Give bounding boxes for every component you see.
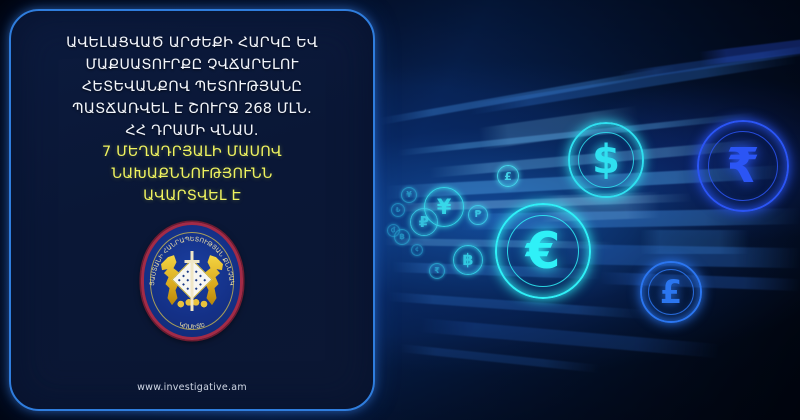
- headline-block: ԱՎԵԼԱՑՎԱԾ ԱՐԺԵՔԻ ՀԱՐԿԸ ԵՎ ՄԱՔՍԱՏՈՒՐՔԸ ՉՎ…: [27, 33, 357, 208]
- coin-rupee-icon: ₹: [697, 120, 789, 212]
- headline-line-4: ՊԱՏՃԱՌՎԵԼ Է ՇՈՒՐՋ 268 ՄԼՆ.: [27, 99, 357, 121]
- headline-line-5: ՀՀ ԴՐԱՄԻ ՎՆԱՍ.: [27, 121, 357, 143]
- coin-rupee-tiny-icon: ₹: [429, 263, 445, 279]
- coin-symbol: ₹: [434, 267, 440, 275]
- coin-symbol: ₱: [475, 210, 482, 220]
- headline-line-1: ԱՎԵԼԱՑՎԱԾ ԱՐԺԵՔԻ ՀԱՐԿԸ ԵՎ: [27, 33, 357, 55]
- coin-pound-small-icon: £: [497, 165, 519, 187]
- coin-pound-icon: £: [640, 261, 702, 323]
- coin-symbol: €: [526, 226, 561, 276]
- coin-symbol: $: [592, 140, 620, 180]
- highlight-line-2: ՆԱԽԱՔՆՆՈՒԹՅՈՒՆՆ: [27, 164, 357, 186]
- coin-symbol: ¥: [406, 191, 412, 199]
- coin-symbol: £: [660, 276, 682, 308]
- coin-lira-tiny-icon: ₺: [391, 203, 405, 217]
- emblem-wrap: ՀԱՅԱՍՏԱՆԻ ՀԱՆՐԱՊԵՏՈՒԹՅԱՆ ՔՆՆՉԱԿԱՆ ԿՈՄԻՏԵ: [141, 222, 243, 340]
- coin-symbol: £: [504, 171, 512, 182]
- headline-line-3: ՀԵՏԵՎԱՆՔՈՎ ՊԵՏՈՒԹՅԱՆԸ: [27, 77, 357, 99]
- coin-symbol: ₺: [396, 207, 401, 214]
- coin-symbol: ฿: [462, 252, 473, 268]
- announcement-card: $₹€£¥₽฿£₱¥₺฿₫₹¢ ԱՎԵԼԱՑՎԱԾ ԱՐԺԵՔԻ ՀԱՐԿԸ Ե…: [0, 0, 800, 420]
- coin-symbol: ₽: [419, 215, 429, 230]
- coin-peso-small-icon: ₱: [468, 205, 488, 225]
- coin-symbol: ₹: [726, 142, 759, 190]
- headline-line-2: ՄԱՔՍԱՏՈՒՐՔԸ ՉՎՃԱՐԵԼՈՒ: [27, 55, 357, 77]
- sword-icon: [191, 251, 194, 311]
- investigative-committee-emblem-icon: ՀԱՅԱՍՏԱՆԻ ՀԱՆՐԱՊԵՏՈՒԹՅԱՆ ՔՆՆՉԱԿԱՆ ԿՈՄԻՏԵ: [141, 222, 243, 340]
- coin-dong-tiny-icon: ₫: [387, 224, 400, 237]
- coin-symbol: ฿: [399, 233, 405, 241]
- coin-symbol: ¥: [437, 197, 452, 218]
- coin-cent-tiny-icon: ¢: [411, 244, 423, 256]
- text-panel: ԱՎԵԼԱՑՎԱԾ ԱՐԺԵՔԻ ՀԱՐԿԸ ԵՎ ՄԱՔՍԱՏՈՒՐՔԸ ՉՎ…: [9, 9, 375, 411]
- highlight-line-3: ԱՎԱՐՏՎԵԼ Է: [27, 186, 357, 208]
- highlight-line-1: 7 ՄԵՂԱԴՐՅԱԼԻ ՄԱՍՈՎ: [27, 142, 357, 164]
- coin-symbol: ₫: [391, 227, 396, 234]
- emblem-eagles: [161, 249, 223, 313]
- coin-yen-tiny-icon: ¥: [401, 187, 417, 203]
- coin-symbol: ¢: [415, 247, 419, 253]
- site-url[interactable]: www.investigative.am: [137, 382, 247, 393]
- coin-ruble-icon: ₽: [410, 208, 438, 236]
- coin-dollar-icon: $: [568, 122, 644, 198]
- coin-euro-icon: €: [495, 203, 591, 299]
- coin-bitcoin-icon: ฿: [453, 245, 483, 275]
